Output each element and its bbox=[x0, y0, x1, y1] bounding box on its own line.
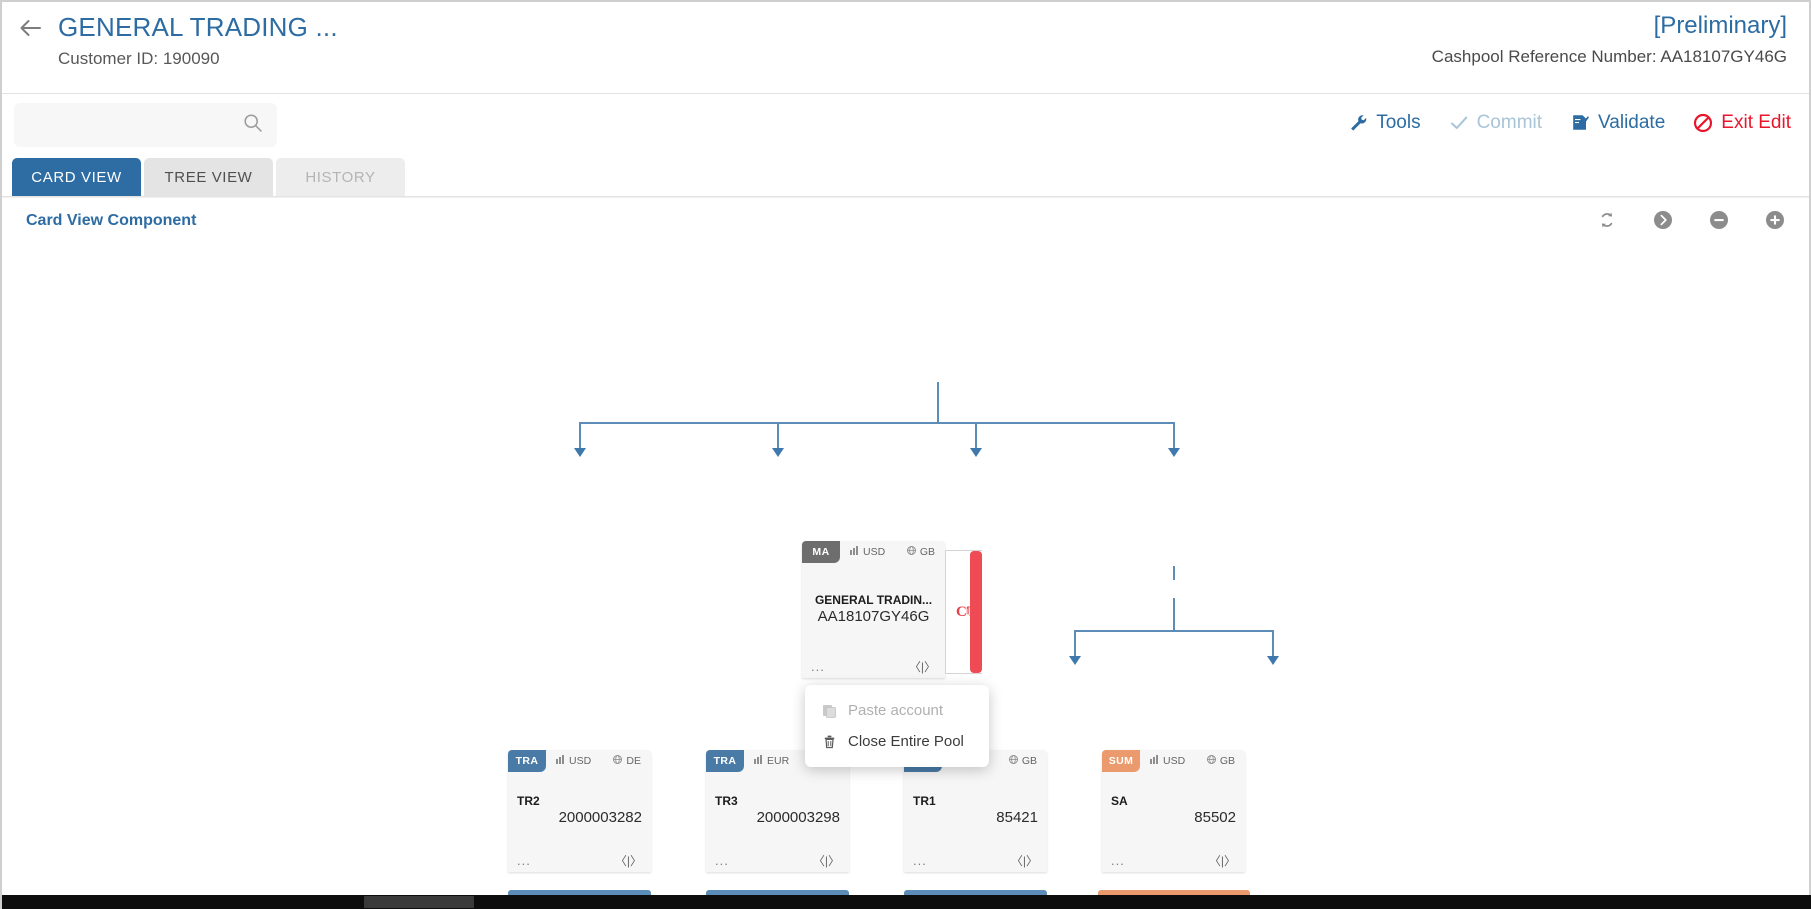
connector-root-down bbox=[937, 382, 939, 422]
card-name: GENERAL TRADIN... bbox=[811, 593, 936, 607]
card-body: SA 85502 bbox=[1102, 772, 1245, 848]
card-more-icon[interactable]: ... bbox=[811, 660, 825, 673]
card-reference: AA18107GY46G bbox=[811, 608, 936, 625]
check-icon bbox=[1449, 113, 1469, 133]
scrollbar-thumb[interactable] bbox=[364, 896, 474, 908]
card-country: GB bbox=[1009, 755, 1037, 767]
menu-item-label: Paste account bbox=[848, 702, 943, 719]
connector-sa-drop bbox=[1173, 422, 1175, 450]
connector-tr2-drop bbox=[579, 422, 581, 450]
card-badge: SUM bbox=[1102, 750, 1140, 772]
tab-history: HISTORY bbox=[276, 158, 405, 196]
currency-icon bbox=[1150, 755, 1159, 767]
card-badge: TRA bbox=[706, 750, 744, 772]
paste-icon bbox=[821, 703, 837, 718]
card-name: TR1 bbox=[913, 794, 1038, 808]
card-badge: MA bbox=[802, 541, 840, 563]
action-buttons: Tools Commit bbox=[1348, 94, 1791, 151]
card-currency: USD bbox=[1150, 755, 1185, 767]
card-footer: ... 〈|〉 bbox=[1102, 848, 1245, 872]
commit-label: Commit bbox=[1477, 112, 1542, 134]
arrow-sa bbox=[1168, 448, 1180, 457]
card-resize-icon[interactable]: 〈|〉 bbox=[615, 852, 642, 869]
card-body: TR1 85421 bbox=[904, 772, 1047, 848]
currency-label: USD bbox=[863, 546, 885, 558]
card-body: TR2 2000003282 bbox=[508, 772, 651, 848]
arrow-tr3 bbox=[772, 448, 784, 457]
arrow-tr5 bbox=[1069, 656, 1081, 665]
ct-grip-icon[interactable]: ‖ bbox=[966, 607, 969, 618]
card-body: GENERAL TRADIN... AA18107GY46G bbox=[802, 563, 945, 654]
currency-label: USD bbox=[569, 755, 591, 767]
card-account-sa[interactable]: SUM USD GB SA 85502 ... 〈|〉 bbox=[1102, 750, 1245, 872]
card-name: SA bbox=[1111, 794, 1236, 808]
connector-sa6-drop bbox=[1272, 630, 1274, 658]
ban-icon bbox=[1693, 113, 1713, 133]
card-footer: ... 〈|〉 bbox=[508, 848, 651, 872]
card-country: DE bbox=[613, 755, 641, 767]
context-menu[interactable]: Paste account Close Entire Pool bbox=[805, 685, 989, 767]
header-right: [Preliminary] Cashpool Reference Number:… bbox=[1432, 12, 1787, 67]
arrow-sa6 bbox=[1267, 656, 1279, 665]
currency-icon bbox=[556, 755, 565, 767]
status-badge: [Preliminary] bbox=[1432, 12, 1787, 40]
card-account-tr3[interactable]: TRA EUR DE TR3 2000003298 ... bbox=[706, 750, 849, 872]
view-tabs: CARD VIEW TREE VIEW HISTORY bbox=[2, 151, 1809, 197]
card-resize-icon[interactable]: 〈|〉 bbox=[1209, 852, 1236, 869]
connector-tr5-drop bbox=[1074, 630, 1076, 658]
country-label: DE bbox=[626, 755, 641, 767]
search-input[interactable] bbox=[14, 103, 277, 147]
card-view-canvas: Card View Component bbox=[2, 197, 1809, 897]
card-header: SUM USD GB bbox=[1102, 750, 1245, 772]
card-account-tr2[interactable]: TRA USD DE TR2 2000003282 ... bbox=[508, 750, 651, 872]
card-account-number: 85421 bbox=[913, 809, 1038, 826]
arrow-tr1 bbox=[970, 448, 982, 457]
card-name: TR3 bbox=[715, 794, 840, 808]
connector-level2-bus bbox=[579, 422, 1174, 424]
card-account-number: 85502 bbox=[1111, 809, 1236, 826]
currency-label: USD bbox=[1163, 755, 1185, 767]
card-account-number: 2000003298 bbox=[715, 809, 840, 826]
connector-level3-bus bbox=[1074, 630, 1274, 632]
card-master-account[interactable]: MA USD GB GENERAL TRAD bbox=[802, 541, 945, 678]
globe-icon bbox=[1009, 755, 1018, 767]
card-country: GB bbox=[907, 546, 935, 558]
customer-id-label: Customer ID: 190090 bbox=[58, 49, 338, 69]
card-account-number: 2000003282 bbox=[517, 809, 642, 826]
currency-icon bbox=[850, 546, 859, 558]
card-currency: EUR bbox=[754, 755, 789, 767]
action-bar: Tools Commit bbox=[2, 94, 1809, 151]
validate-doc-icon bbox=[1570, 113, 1590, 133]
commit-button: Commit bbox=[1449, 112, 1542, 134]
currency-icon bbox=[754, 755, 763, 767]
cashpool-reference-label: Cashpool Reference Number: AA18107GY46G bbox=[1432, 47, 1787, 67]
page-title: GENERAL TRADING ... bbox=[58, 12, 338, 43]
validate-button[interactable]: Validate bbox=[1570, 112, 1665, 134]
globe-icon bbox=[907, 546, 916, 558]
connector-sa-down-bottom bbox=[1173, 598, 1175, 630]
tab-tree-view[interactable]: TREE VIEW bbox=[144, 158, 273, 196]
ct-red-bar bbox=[970, 551, 982, 673]
back-arrow-icon[interactable] bbox=[18, 15, 44, 41]
exit-edit-button[interactable]: Exit Edit bbox=[1693, 112, 1791, 134]
globe-icon bbox=[1207, 755, 1216, 767]
card-footer: ... 〈|〉 bbox=[904, 848, 1047, 872]
validate-label: Validate bbox=[1598, 112, 1665, 134]
arrow-tr2 bbox=[574, 448, 586, 457]
globe-icon bbox=[613, 755, 622, 767]
card-header: TRA USD DE bbox=[508, 750, 651, 772]
connector-tr1-drop bbox=[975, 422, 977, 450]
card-resize-icon[interactable]: 〈|〉 bbox=[909, 658, 936, 675]
country-label: GB bbox=[1220, 755, 1235, 767]
ct-side-panel[interactable]: CT ‖ bbox=[945, 550, 982, 674]
card-badge: TRA bbox=[508, 750, 546, 772]
tools-button[interactable]: Tools bbox=[1348, 112, 1420, 134]
card-resize-icon[interactable]: 〈|〉 bbox=[813, 852, 840, 869]
card-currency: USD bbox=[556, 755, 591, 767]
connector-tr3-drop bbox=[777, 422, 779, 450]
card-resize-icon[interactable]: 〈|〉 bbox=[1011, 852, 1038, 869]
application-window: GENERAL TRADING ... Customer ID: 190090 … bbox=[0, 0, 1811, 909]
card-more-icon[interactable]: ... bbox=[913, 854, 927, 867]
country-label: GB bbox=[920, 546, 935, 558]
card-country: GB bbox=[1207, 755, 1235, 767]
trash-icon bbox=[821, 734, 837, 749]
card-more-icon[interactable]: ... bbox=[1111, 854, 1125, 867]
header-left: GENERAL TRADING ... Customer ID: 190090 bbox=[18, 12, 338, 69]
card-currency: USD bbox=[850, 546, 885, 558]
card-header: MA USD GB bbox=[802, 541, 945, 563]
menu-item-paste-account: Paste account bbox=[805, 695, 989, 726]
cashpool-tree: MA USD GB GENERAL TRAD bbox=[2, 198, 1809, 897]
exit-edit-label: Exit Edit bbox=[1721, 112, 1791, 134]
horizontal-scrollbar[interactable] bbox=[2, 895, 1811, 909]
card-more-icon[interactable]: ... bbox=[517, 854, 531, 867]
page-header: GENERAL TRADING ... Customer ID: 190090 … bbox=[2, 2, 1809, 94]
country-label: GB bbox=[1022, 755, 1037, 767]
card-body: TR3 2000003298 bbox=[706, 772, 849, 848]
menu-item-label: Close Entire Pool bbox=[848, 733, 964, 750]
card-account-tr1[interactable]: TRA USD GB TR1 85421 ... 〈|〉 bbox=[904, 750, 1047, 872]
tools-label: Tools bbox=[1376, 112, 1420, 134]
tab-card-view[interactable]: CARD VIEW bbox=[12, 158, 141, 196]
currency-label: EUR bbox=[767, 755, 789, 767]
card-name: TR2 bbox=[517, 794, 642, 808]
wrench-icon bbox=[1348, 113, 1368, 133]
card-footer: ... 〈|〉 bbox=[706, 848, 849, 872]
card-more-icon[interactable]: ... bbox=[715, 854, 729, 867]
search-box[interactable] bbox=[14, 103, 277, 147]
connector-sa-down-top bbox=[1173, 566, 1175, 580]
menu-item-close-entire-pool[interactable]: Close Entire Pool bbox=[805, 726, 989, 757]
card-footer: ... 〈|〉 bbox=[802, 654, 945, 678]
